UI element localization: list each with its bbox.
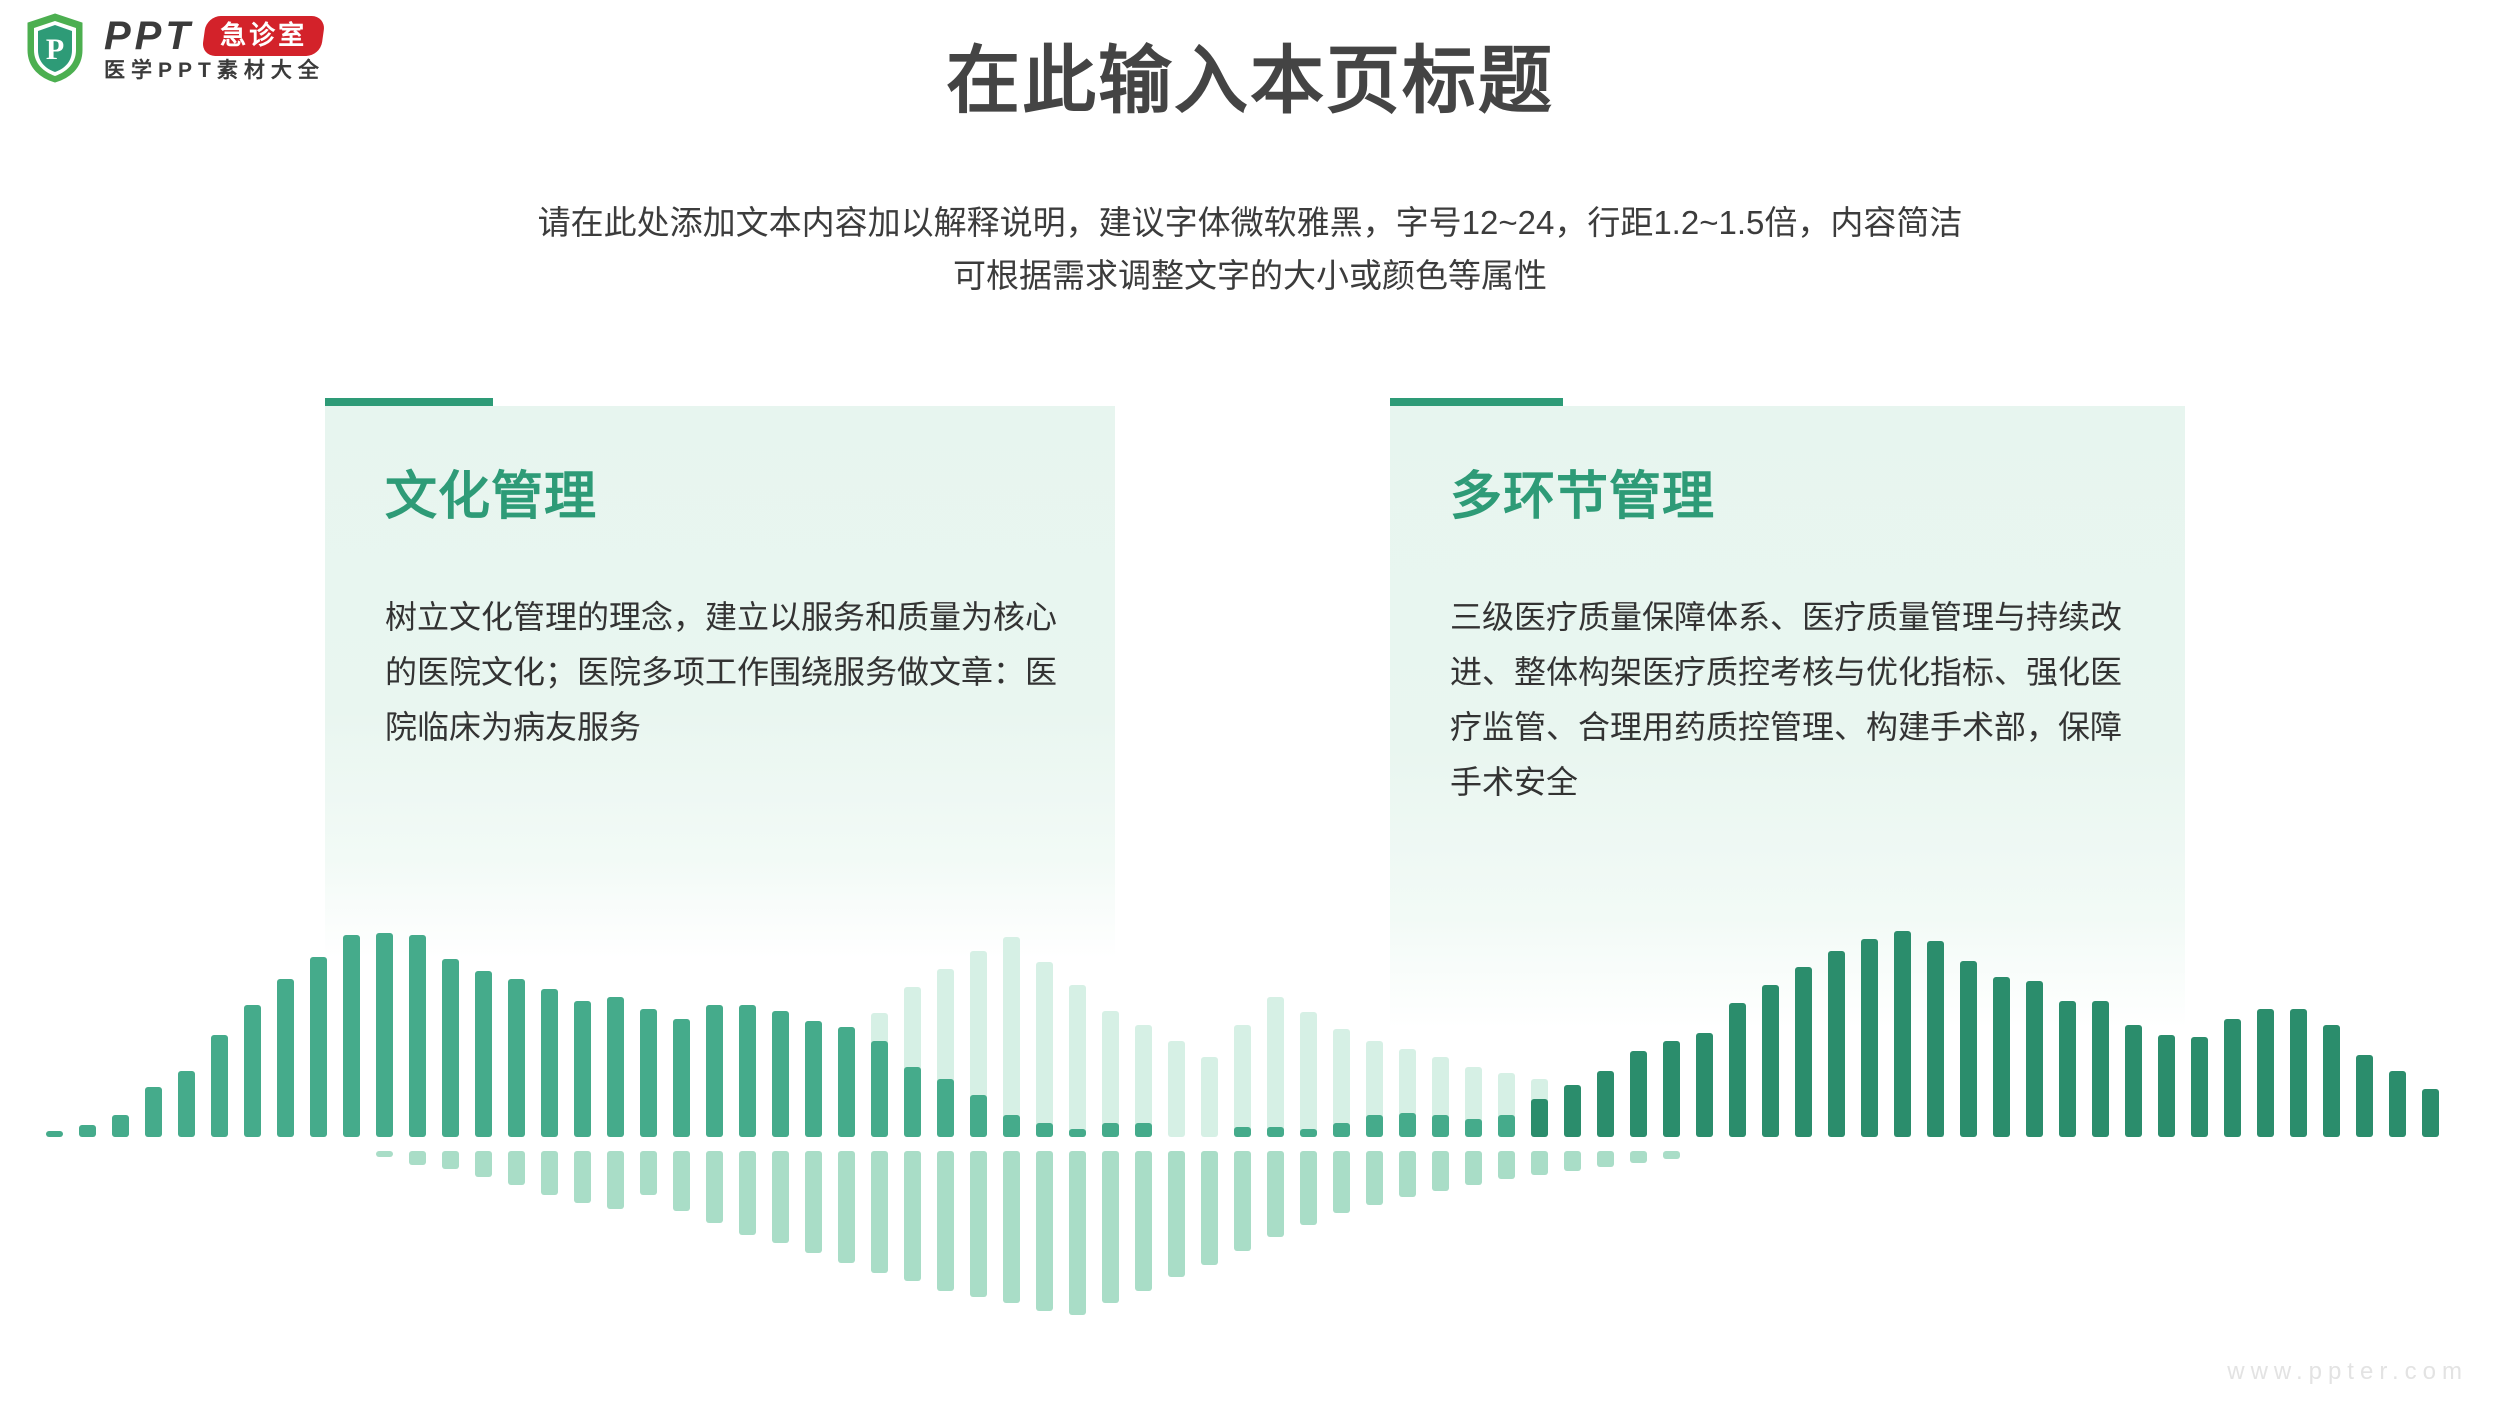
waveform-bar-solid-up [1333,1123,1350,1137]
waveform-bar-column [1531,920,1548,1370]
waveform-bar-solid-up [1564,1085,1581,1137]
waveform-bar-pale-down [1366,1151,1383,1205]
waveform-bar-solid-up [2059,1001,2076,1137]
waveform-bar-solid-up [145,1087,162,1137]
waveform-bar-column [1432,920,1449,1370]
waveform-bar-solid-up [1465,1119,1482,1137]
waveform-bar-solid-up [1399,1113,1416,1137]
waveform-bar-column [1135,920,1152,1370]
waveform-bar-solid-up [2257,1009,2274,1137]
waveform-bar-column [2356,920,2373,1370]
site-watermark: www.ppter.com [2227,1358,2468,1386]
waveform-bar-solid-up [277,979,294,1137]
waveform-bar-solid-up [805,1021,822,1137]
waveform-bar-solid-up [2092,1001,2109,1137]
waveform-bar-column [805,920,822,1370]
waveform-bar-column [871,920,888,1370]
waveform-bar-pale-down [904,1151,921,1281]
page-title: 在此输入本页标题 [0,38,2500,123]
waveform-bar-pale-down [640,1151,657,1195]
waveform-bar-column [409,920,426,1370]
card-heading: 文化管理 [385,466,1057,528]
waveform-bar-pale-down [1531,1151,1548,1175]
waveform-bar-column [838,920,855,1370]
waveform-bar-column [2290,920,2307,1370]
waveform-bar-column [343,920,360,1370]
waveform-bar-column [673,920,690,1370]
waveform-bar-column [2059,920,2076,1370]
waveform-bar-column [376,920,393,1370]
waveform-bar-solid-up [1762,985,1779,1137]
waveform-bar-column [145,920,162,1370]
waveform-bar-solid-up [46,1131,63,1137]
waveform-bar-solid-up [970,1095,987,1137]
waveform-bar-pale-up [1102,1011,1119,1137]
waveform-bar-pale-down [475,1151,492,1177]
waveform-bar-pale-down [442,1151,459,1169]
waveform-bar-column [1927,920,1944,1370]
waveform-bar-column [310,920,327,1370]
waveform-bar-solid-up [607,997,624,1137]
waveform-bar-pale-down [970,1151,987,1297]
waveform-bar-column [1102,920,1119,1370]
waveform-bar-column [475,920,492,1370]
waveform-bar-column [1960,920,1977,1370]
card-content: 文化管理 树立文化管理的理念，建立以服务和质量为核心的医院文化；医院多项工作围绕… [325,406,1115,958]
card-accent-bar [325,398,493,406]
waveform-bar-solid-up [1696,1033,1713,1137]
waveform-bar-pale-down [838,1151,855,1263]
waveform-bar-solid-up [574,1001,591,1137]
waveform-bar-column [2125,920,2142,1370]
page-subtitle-line2: 可根据需求调整文字的大小或颜色等属性 [0,249,2500,302]
waveform-bar-solid-up [2422,1089,2439,1137]
waveform-bar-pale-up [1036,962,1053,1137]
waveform-bar-pale-down [409,1151,426,1165]
waveform-bar-solid-up [739,1005,756,1137]
waveform-bar-solid-up [706,1005,723,1137]
waveform-bar-pale-down [376,1151,393,1157]
waveform-bar-solid-up [112,1115,129,1137]
waveform-bar-column [574,920,591,1370]
waveform-bar-solid-up [2323,1025,2340,1137]
waveform-bar-pale-down [1498,1151,1515,1179]
waveform-bar-solid-up [1597,1071,1614,1137]
waveform-bar-solid-up [1366,1115,1383,1137]
waveform-bar-column [1036,920,1053,1370]
waveform-bar-pale-down [805,1151,822,1253]
waveform-bar-column [1696,920,1713,1370]
waveform-bar-solid-up [1432,1115,1449,1137]
card-body: 树立文化管理的理念，建立以服务和质量为核心的医院文化；医院多项工作围绕服务做文章… [385,590,1057,755]
waveform-bar-column [1861,920,1878,1370]
waveform-bar-column [2389,920,2406,1370]
waveform-bar-column [277,920,294,1370]
waveform-bar-column [2191,920,2208,1370]
waveform-bar-column [1399,920,1416,1370]
waveform-bar-solid-up [772,1011,789,1137]
waveform-bar-pale-up [1201,1057,1218,1137]
waveform-bar-pale-down [1432,1151,1449,1191]
waveform-bar-column [2323,920,2340,1370]
waveform-bar-solid-up [2125,1025,2142,1137]
waveform-bar-pale-up [1300,1012,1317,1137]
waveform-bar-pale-down [1168,1151,1185,1277]
waveform-bar-column [1366,920,1383,1370]
waveform-bar-column [1003,920,1020,1370]
waveform-bar-solid-up [1102,1123,1119,1137]
waveform-bar-column [1300,920,1317,1370]
waveform-bar-column [1795,920,1812,1370]
waveform-bar-solid-up [1135,1123,1152,1137]
waveform-bar-pale-down [1102,1151,1119,1303]
waveform-bar-solid-up [244,1005,261,1137]
waveform-bar-column [1465,920,1482,1370]
card-culture-management[interactable]: 文化管理 树立文化管理的理念，建立以服务和质量为核心的医院文化；医院多项工作围绕… [325,398,1115,958]
waveform-bar-pale-down [706,1151,723,1223]
waveform-bar-solid-up [442,959,459,1137]
waveform-bar-solid-up [376,933,393,1137]
waveform-bar-pale-down [1399,1151,1416,1197]
waveform-bar-column [1498,920,1515,1370]
waveform-bar-pale-down [1069,1151,1086,1315]
waveform-bar-column [1597,920,1614,1370]
waveform-bar-solid-up [1498,1115,1515,1137]
waveform-bar-column [607,920,624,1370]
waveform-bar-pale-down [607,1151,624,1209]
waveform-bar-pale-up [1267,997,1284,1137]
waveform-bar-pale-down [937,1151,954,1291]
waveform-bar-column [772,920,789,1370]
waveform-bar-pale-down [508,1151,525,1185]
waveform-bar-column [1234,920,1251,1370]
waveform-bar-solid-up [409,935,426,1137]
waveform-bar-column [1828,920,1845,1370]
waveform-bar-column [2026,920,2043,1370]
waveform-bar-pale-down [1465,1151,1482,1185]
waveform-bar-solid-up [2026,981,2043,1137]
waveform-bar-pale-down [1564,1151,1581,1171]
waveform-bar-column [937,920,954,1370]
waveform-bar-column [1729,920,1746,1370]
waveform-bar-column [1663,920,1680,1370]
waveform-bar-pale-down [574,1151,591,1203]
waveform-bar-pale-down [1663,1151,1680,1159]
waveform-bar-pale-up [1234,1025,1251,1137]
waveform-bar-solid-up [508,979,525,1137]
waveform-bar-solid-up [211,1035,228,1137]
waveform-bar-column [2158,920,2175,1370]
waveform-bar-column [211,920,228,1370]
waveform-bar-column [1894,920,1911,1370]
waveform-bar-column [1762,920,1779,1370]
waveform-bar-solid-up [541,989,558,1137]
waveform-bar-solid-up [1069,1129,1086,1137]
waveform-bar-column [2257,920,2274,1370]
waveform-bar-pale-down [1234,1151,1251,1251]
waveform-bar-column [112,920,129,1370]
waveform-bar-column [2092,920,2109,1370]
waveform-bar-column [1993,920,2010,1370]
waveform-bar-pale-up [1168,1041,1185,1137]
page-subtitle: 请在此处添加文本内容加以解释说明，建议字体微软雅黑，字号12~24，行距1.2~… [0,196,2500,303]
waveform-bar-solid-up [904,1067,921,1137]
waveform-bar-solid-up [1894,931,1911,1137]
waveform-bar-solid-up [1663,1041,1680,1137]
waveform-bar-column [739,920,756,1370]
waveform-bar-solid-up [2224,1019,2241,1137]
waveform-bar-pale-down [1201,1151,1218,1265]
waveform-bar-column [970,920,987,1370]
waveform-bar-solid-up [1729,1003,1746,1137]
waveform-bar-solid-up [2158,1035,2175,1137]
waveform-bar-solid-up [343,935,360,1137]
waveform-bar-solid-up [1861,939,1878,1137]
waveform-bar-column [904,920,921,1370]
card-heading: 多环节管理 [1450,466,2127,528]
waveform-bar-solid-up [1300,1129,1317,1137]
waveform-chart [0,920,2500,1370]
waveform-bar-solid-up [1234,1127,1251,1137]
waveform-bar-solid-up [673,1019,690,1137]
waveform-bar-solid-up [1531,1099,1548,1137]
waveform-bar-column [541,920,558,1370]
waveform-bar-column [508,920,525,1370]
waveform-bar-column [244,920,261,1370]
waveform-bar-pale-down [541,1151,558,1195]
waveform-bar-pale-down [1135,1151,1152,1291]
waveform-bar-pale-down [1597,1151,1614,1167]
waveform-bar-solid-up [1960,961,1977,1137]
waveform-bar-pale-down [1630,1151,1647,1163]
waveform-bar-solid-up [1267,1127,1284,1137]
waveform-bar-pale-down [1003,1151,1020,1303]
waveform-bar-solid-up [871,1041,888,1137]
waveform-bar-solid-up [475,971,492,1137]
waveform-bar-column [1201,920,1218,1370]
waveform-bar-column [1564,920,1581,1370]
waveform-bar-solid-up [310,957,327,1137]
waveform-bar-column [1267,920,1284,1370]
waveform-bar-pale-down [1267,1151,1284,1237]
waveform-bar-column [79,920,96,1370]
card-body: 三级医疗质量保障体系、医疗质量管理与持续改进、整体构架医疗质控考核与优化指标、强… [1450,590,2127,810]
waveform-bar-column [442,920,459,1370]
waveform-bar-solid-up [1795,967,1812,1137]
waveform-bar-solid-up [2191,1037,2208,1137]
waveform-bar-column [640,920,657,1370]
waveform-bar-column [2422,920,2439,1370]
waveform-bar-pale-down [739,1151,756,1235]
waveform-bar-column [46,920,63,1370]
waveform-bar-solid-up [838,1027,855,1137]
waveform-bar-column [1069,920,1086,1370]
page-subtitle-line1: 请在此处添加文本内容加以解释说明，建议字体微软雅黑，字号12~24，行距1.2~… [0,196,2500,249]
waveform-bar-solid-up [937,1079,954,1137]
waveform-bar-column [1168,920,1185,1370]
waveform-bar-solid-up [1036,1123,1053,1137]
waveform-bar-solid-up [2356,1055,2373,1137]
waveform-bar-solid-up [1630,1051,1647,1137]
waveform-bar-solid-up [1003,1115,1020,1137]
waveform-bar-solid-up [1993,977,2010,1137]
waveform-bar-pale-up [1333,1029,1350,1137]
waveform-bar-solid-up [1828,951,1845,1137]
waveform-bar-column [1630,920,1647,1370]
waveform-bar-column [1333,920,1350,1370]
waveform-bar-pale-down [1300,1151,1317,1225]
waveform-bar-solid-up [2389,1071,2406,1137]
card-accent-bar [1390,398,1563,406]
waveform-bar-pale-up [1003,937,1020,1137]
waveform-bar-pale-down [673,1151,690,1211]
waveform-bar-solid-up [640,1009,657,1137]
waveform-bar-pale-down [1333,1151,1350,1213]
waveform-bar-pale-up [1135,1025,1152,1137]
waveform-bar-column [706,920,723,1370]
waveform-bar-pale-up [1069,985,1086,1137]
slide-canvas: P PPT 急诊室 医学PPT素材大全 在此输入本页标题 请在此处添加文本内容加… [0,0,2500,1406]
waveform-bar-solid-up [2290,1009,2307,1137]
waveform-bar-column [178,920,195,1370]
waveform-bar-column [2224,920,2241,1370]
waveform-bar-pale-down [772,1151,789,1243]
waveform-bar-solid-up [79,1125,96,1137]
waveform-bar-pale-down [1036,1151,1053,1311]
waveform-bar-solid-up [178,1071,195,1137]
waveform-bar-solid-up [1927,941,1944,1137]
waveform-bar-pale-down [871,1151,888,1273]
